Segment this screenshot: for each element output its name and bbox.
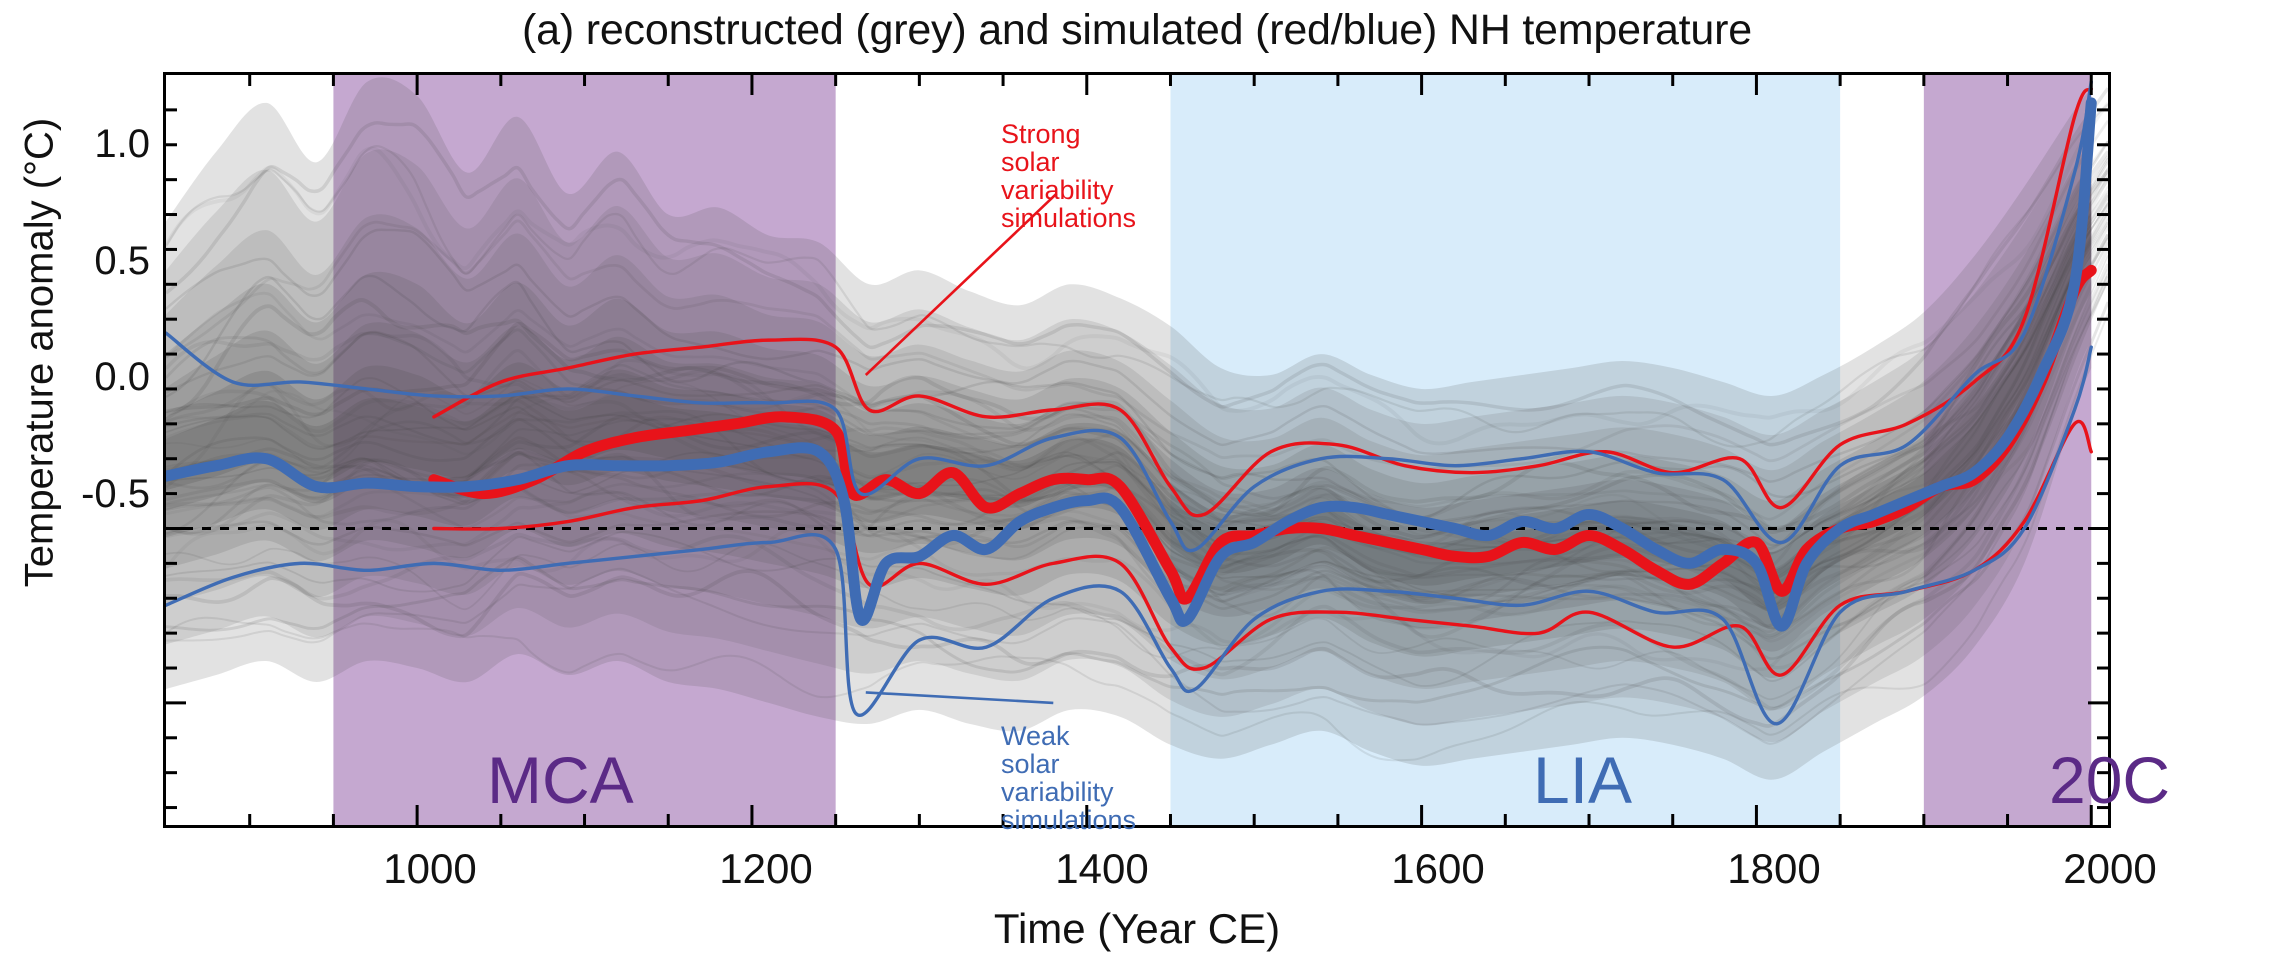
- chart-title: (a) reconstructed (grey) and simulated (…: [0, 6, 2274, 55]
- x-tick-label-1000: 1000: [330, 845, 530, 893]
- figure-panel: (a) reconstructed (grey) and simulated (…: [0, 0, 2274, 953]
- annotation-strong-solar: Strong solar variability simulations: [1001, 120, 1136, 232]
- period-label-mca: MCA: [487, 742, 634, 818]
- y-tick-label-2: 0.5: [0, 239, 150, 284]
- plot-svg: [166, 75, 2108, 825]
- y-tick-label-4: -0.5: [0, 472, 150, 517]
- x-tick-label-1600: 1600: [1338, 845, 1538, 893]
- plot-area: [163, 72, 2111, 828]
- y-tick-label-3: 0.0: [0, 355, 150, 400]
- period-label-20c: 20C: [2049, 742, 2170, 818]
- annotation-weak-solar: Weak solar variability simulations: [1001, 722, 1136, 834]
- x-tick-label-2000: 2000: [2010, 845, 2210, 893]
- x-tick-label-1200: 1200: [666, 845, 866, 893]
- x-tick-label-1800: 1800: [1674, 845, 1874, 893]
- x-tick-label-1400: 1400: [1002, 845, 1202, 893]
- y-tick-label-1: 1.0: [0, 122, 150, 167]
- x-axis-label: Time (Year CE): [0, 905, 2274, 953]
- period-label-lia: LIA: [1533, 742, 1632, 818]
